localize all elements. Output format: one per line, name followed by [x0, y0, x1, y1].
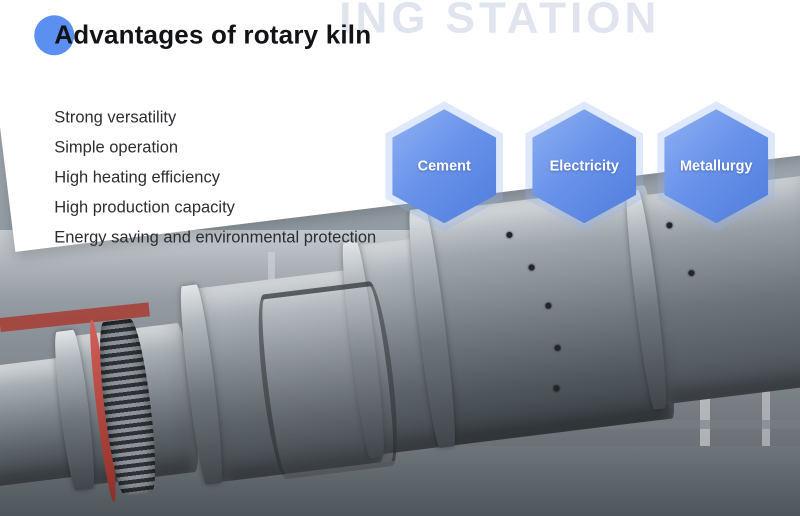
badge-label: Cement [418, 158, 471, 174]
badge-label: Electricity [550, 158, 619, 174]
white-banner: ING STATION Advantages of rotary kiln St… [0, 0, 800, 252]
kiln-flange [252, 280, 404, 480]
list-item: Energy saving and environmental protecti… [54, 222, 474, 252]
watermark-text: ING STATION [339, 0, 660, 43]
slide-root: ING STATION Advantages of rotary kiln St… [0, 0, 800, 516]
badge-label: Metallurgy [680, 158, 753, 174]
banner-content: ING STATION Advantages of rotary kiln St… [4, 0, 800, 247]
application-badges: Cement Electricity Metallurgy [392, 109, 792, 224]
page-title: Advantages of rotary kiln [54, 19, 371, 50]
